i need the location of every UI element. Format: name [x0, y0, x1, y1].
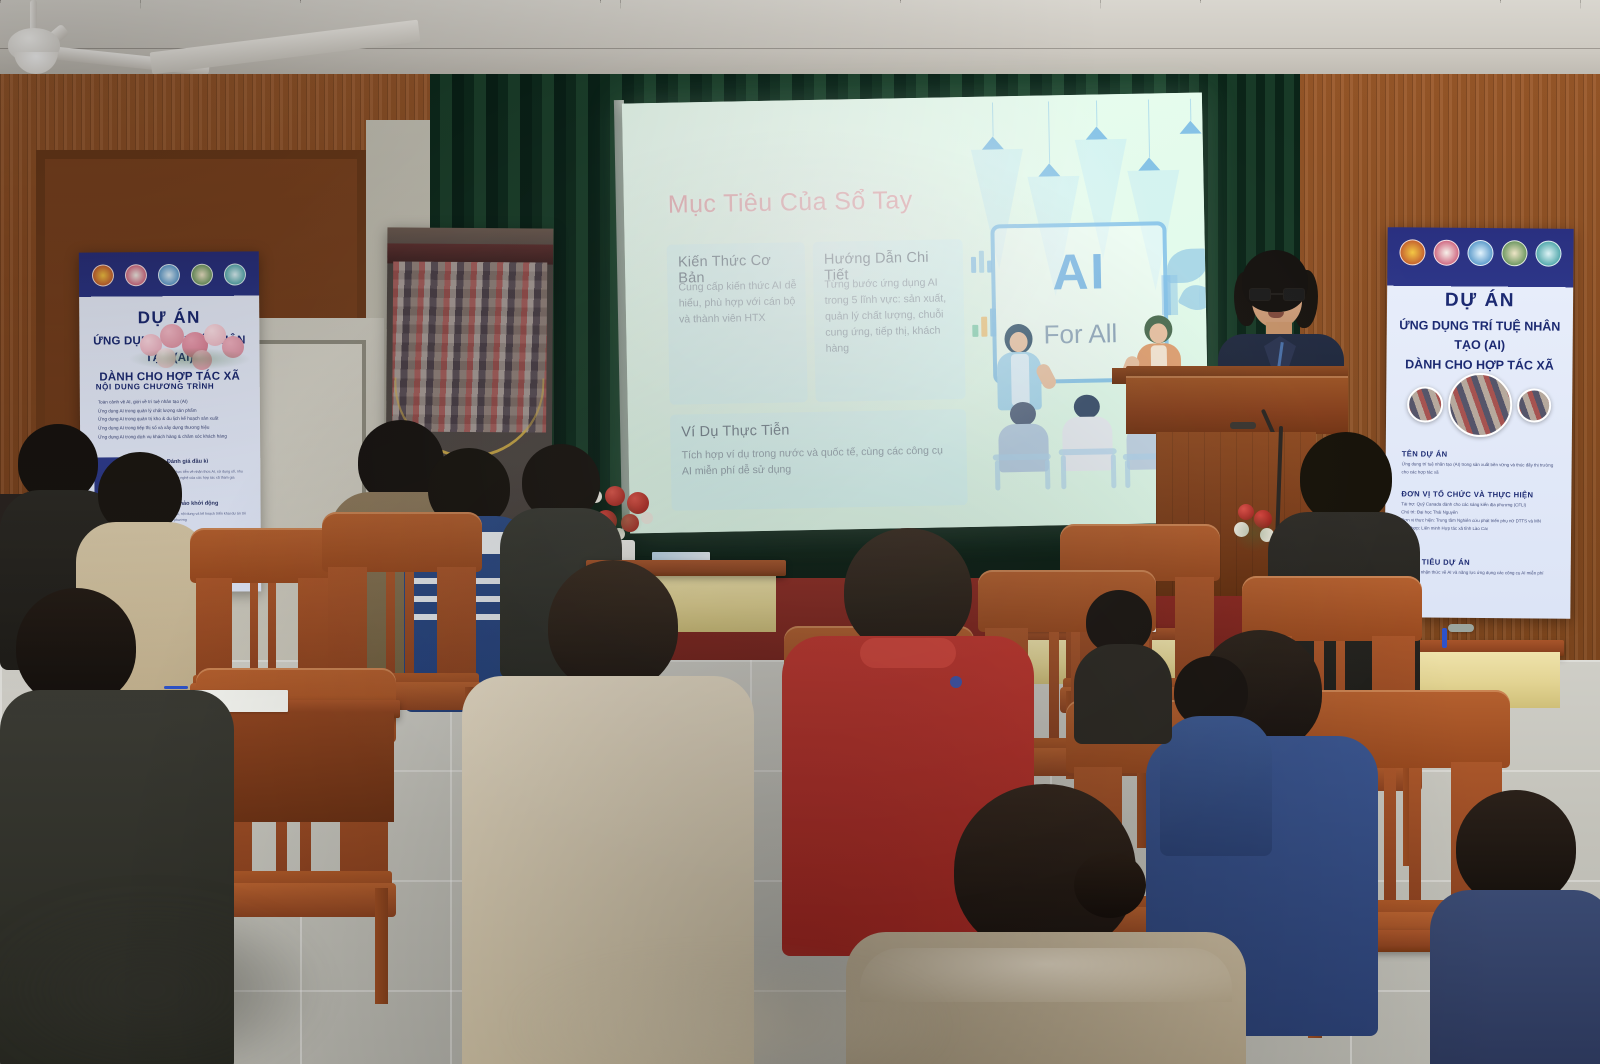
board-ai-text: AI: [995, 245, 1164, 298]
banner-right-section-goal: MỤC TIÊU DỰ ÁN Nâng cao nhận thức về AI …: [1401, 557, 1557, 578]
section-text: Ứng dụng trí tuệ nhân tạo (AI) trong sản…: [1402, 460, 1558, 478]
partner-logo-icon: [1535, 240, 1561, 266]
card-heading: Ví Dụ Thực Tiễn: [681, 419, 958, 440]
slide-card-detailed-guide: Hướng Dẫn Chi Tiết Từng bước ứng dụng AI…: [813, 239, 966, 402]
slide-card-practical-examples: Ví Dụ Thực Tiễn Tích hợp ví dụ trong nướ…: [670, 409, 968, 511]
section-heading: MỤC TIÊU DỰ ÁN: [1401, 557, 1557, 567]
card-body: Tích hợp ví dụ trong nước và quốc tế, cù…: [682, 443, 956, 480]
banner-left-logos: [87, 258, 251, 291]
podium-flower-arrangement: [130, 318, 250, 376]
audience-person: [1074, 590, 1170, 730]
photo-circle: [1517, 388, 1551, 422]
slide-card-basic-knowledge: Kiến Thức Cơ Bản Cung cấp kiến thức AI d…: [667, 242, 808, 405]
partner-logo-icon: [223, 263, 245, 285]
slide: Mục Tiêu Của Sổ Tay Kiến Thức Cơ Bản Cun…: [622, 92, 1210, 533]
blue-pen: [1442, 628, 1447, 648]
speaker-hair: [1242, 250, 1308, 312]
banner-right-kicker: DỰ ÁN: [1387, 289, 1573, 313]
partner-logo-icon: [1399, 239, 1425, 265]
banner-right-logos: [1395, 235, 1565, 270]
microphone-base: [1230, 422, 1256, 429]
banner-right-section-org: ĐƠN VỊ TỔ CHỨC VÀ THỰC HIỆN Tài trợ: Quỹ…: [1401, 489, 1557, 534]
photo-scene: Mục Tiêu Của Sổ Tay Kiến Thức Cơ Bản Cun…: [0, 0, 1600, 1064]
eyeglasses-icon: [1249, 288, 1305, 301]
audience-person: [1160, 656, 1270, 846]
partner-logo-icon: [1501, 240, 1527, 266]
slide-title: Mục Tiêu Của Sổ Tay: [668, 186, 913, 220]
partner-logo-icon: [125, 264, 147, 286]
section-text: Nâng cao nhận thức về AI và năng lực ứng…: [1401, 568, 1557, 578]
partner-logo-icon: [191, 264, 213, 286]
photo-circle: [1448, 373, 1513, 438]
banner-right-photo-circles: [1396, 367, 1563, 442]
photo-circle: [1407, 386, 1443, 422]
card-body: Cung cấp kiến thức AI dễ hiểu, phù hợp v…: [678, 278, 797, 328]
section-text: Tài trợ: Quỹ Canada dành cho các sáng ki…: [1401, 500, 1557, 534]
audience-person: [1430, 790, 1600, 1064]
desk-object: [1448, 624, 1474, 632]
section-heading: TÊN DỰ ÁN: [1402, 449, 1558, 459]
projection-screen: Mục Tiêu Của Sổ Tay Kiến Thức Cơ Bản Cun…: [622, 92, 1210, 533]
card-body: Từng bước ứng dụng AI trong 5 lĩnh vực: …: [824, 275, 956, 357]
partner-logo-icon: [92, 264, 114, 286]
banner-right-section-name: TÊN DỰ ÁN Ứng dụng trí tuệ nhân tạo (AI)…: [1402, 449, 1558, 478]
partner-logo-icon: [1433, 240, 1459, 266]
partner-logo-icon: [1467, 240, 1493, 266]
banner-left-section-heading: NỘI DUNG CHƯƠNG TRÌNH: [96, 382, 215, 392]
audience-person: [0, 588, 230, 1064]
audience-person-cream-coat: [462, 560, 752, 1064]
section-heading: ĐƠN VỊ TỔ CHỨC VÀ THỰC HIỆN: [1401, 489, 1557, 499]
partner-logo-icon: [158, 264, 180, 286]
banner-right-title-1: ỨNG DỤNG TRÍ TUỆ NHÂN TẠO (AI): [1387, 316, 1573, 356]
